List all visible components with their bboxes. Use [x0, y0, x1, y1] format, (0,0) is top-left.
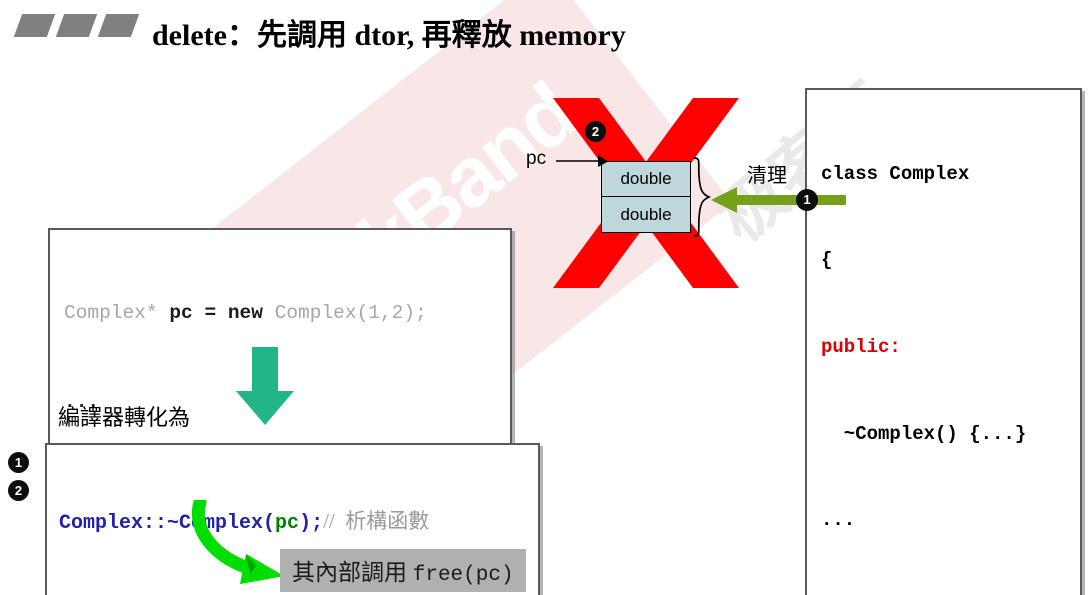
pointer-leader-line [556, 148, 608, 172]
free-note-prefix: 其內部調用 [292, 560, 413, 585]
code-type: Complex* [64, 302, 158, 324]
step-badge-translated-1: 1 [8, 452, 29, 473]
cleanup-label: 清理 [747, 159, 787, 188]
bullet-square-2 [56, 14, 97, 37]
comment-dtor: // 析構函數 [323, 509, 429, 533]
member-cell-imag: double [602, 197, 690, 232]
code-line-new: Complex* pc = new Complex(1,2); [64, 299, 496, 329]
free-call-note: 其內部調用 free(pc) [280, 549, 526, 592]
class-line-ellipsis: ... [821, 506, 1070, 535]
class-line-0: class Complex [821, 160, 1070, 189]
code-keyword-new: new [228, 302, 263, 324]
step-badge-translated-2: 2 [8, 480, 29, 501]
class-definition-box: class Complex { public: ~Complex() {...}… [805, 88, 1082, 595]
down-arrow-icon [232, 347, 298, 425]
step-badge-memory-free: 2 [585, 121, 606, 142]
bullet-square-1 [14, 14, 55, 37]
class-line-dtor: ~Complex() {...} [821, 420, 1070, 449]
bullet-square-3 [98, 14, 139, 37]
code-equals: = [204, 302, 216, 324]
pointer-label-pc: pc [526, 148, 546, 170]
class-line-1: { [821, 246, 1070, 275]
class-line-public: public: [821, 333, 1070, 362]
free-note-call: free(pc) [413, 564, 514, 587]
page-title: delete：先調用 dtor, 再釋放 memory [152, 10, 626, 54]
heap-object-block: double double [601, 161, 691, 233]
member-cell-real: double [602, 162, 690, 197]
slide-canvas: GeekBand 极客班 delete：先調用 dtor, 再釋放 memory… [0, 0, 1092, 595]
code-var-pc: pc [169, 302, 192, 324]
compiler-transform-label: 編譯器轉化為 [58, 400, 190, 432]
title-bullets [18, 14, 135, 37]
code-ctor-call: Complex(1,2); [275, 302, 427, 324]
step-badge-dtor-call: 1 [796, 189, 818, 211]
cleanup-arrow-icon [711, 186, 846, 214]
